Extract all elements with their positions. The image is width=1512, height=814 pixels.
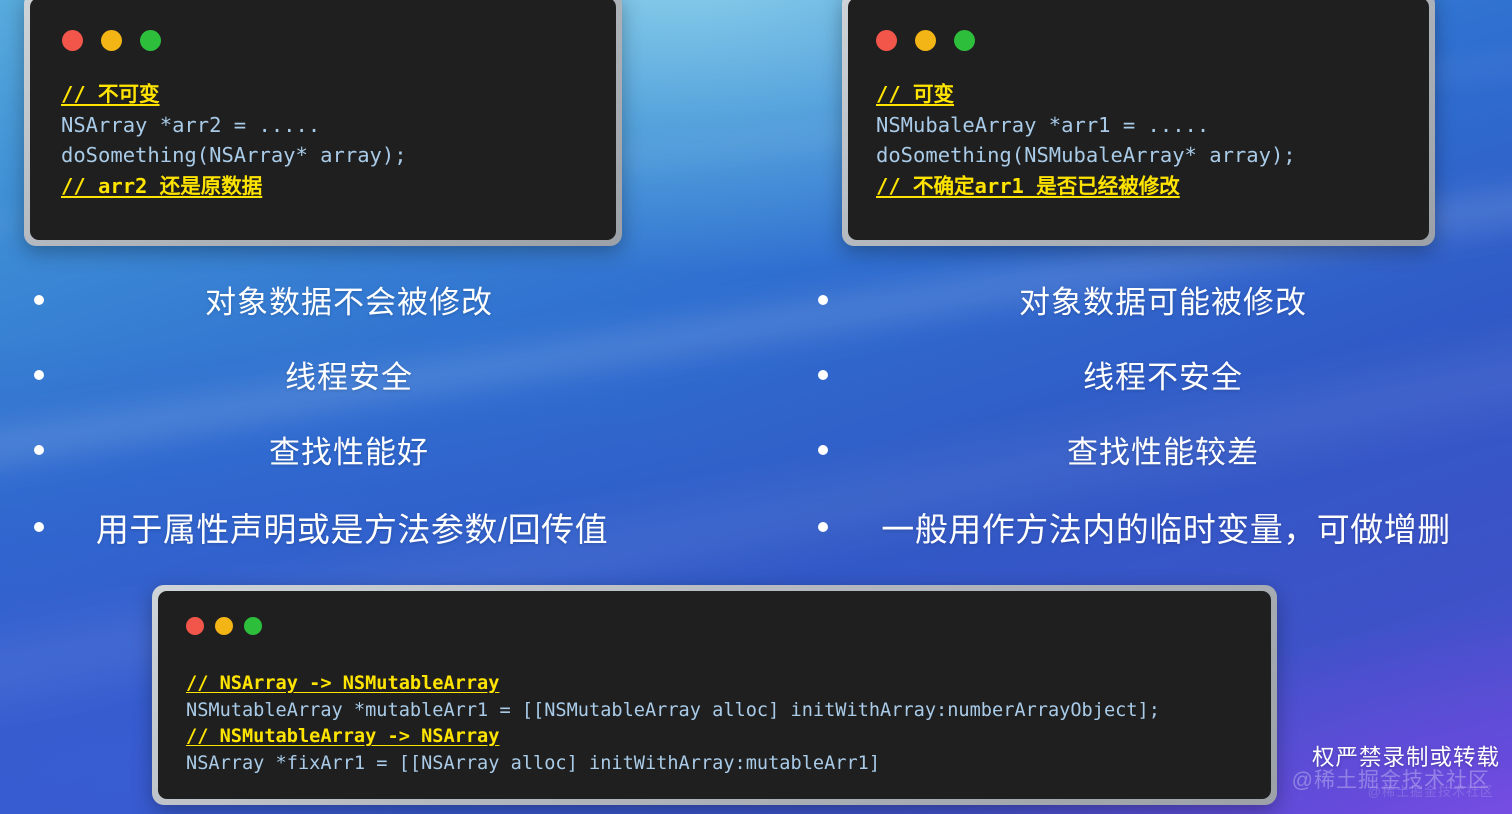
code-line: NSMubaleArray *arr1 = ..... — [876, 110, 1296, 141]
code-text: // 可变NSMubaleArray *arr1 = .....doSometh… — [876, 79, 1296, 201]
bullet-text: 查找性能好 — [44, 427, 654, 472]
minimize-dot[interactable] — [101, 30, 122, 51]
bullet-text: 线程安全 — [44, 352, 654, 397]
bullet-text: 线程不安全 — [828, 352, 1498, 397]
code-text: // 不可变NSArray *arr2 = .....doSomething(N… — [61, 79, 407, 201]
code-line: NSArray *arr2 = ..... — [61, 110, 407, 141]
code-line: doSomething(NSMubaleArray* array); — [876, 140, 1296, 171]
code-window-body: // NSArray -> NSMutableArrayNSMutableArr… — [158, 591, 1271, 799]
window-traffic-lights — [876, 30, 975, 51]
bullet-dot-icon — [34, 522, 44, 532]
close-dot[interactable] — [186, 617, 204, 635]
bullet-dot-icon — [34, 445, 44, 455]
code-window-body: // 可变NSMubaleArray *arr1 = .....doSometh… — [848, 0, 1429, 240]
code-comment-line: // 不确定arr1 是否已经被修改 — [876, 171, 1296, 202]
code-line: NSArray *fixArr1 = [[NSArray alloc] init… — [186, 751, 1160, 778]
list-item: 查找性能较差 — [818, 412, 1498, 487]
list-item: 线程安全 — [34, 337, 654, 412]
maximize-dot[interactable] — [244, 617, 262, 635]
bullet-dot-icon — [34, 370, 44, 380]
list-item: 对象数据不会被修改 — [34, 262, 654, 337]
bullet-text: 查找性能较差 — [828, 427, 1498, 472]
minimize-dot[interactable] — [915, 30, 936, 51]
bullet-dot-icon — [818, 522, 828, 532]
bullet-text: 对象数据不会被修改 — [44, 277, 654, 322]
list-item: 线程不安全 — [818, 337, 1498, 412]
bullet-dot-icon — [34, 295, 44, 305]
code-window-body: // 不可变NSArray *arr2 = .....doSomething(N… — [30, 0, 616, 240]
code-line: doSomething(NSArray* array); — [61, 140, 407, 171]
window-traffic-lights — [62, 30, 161, 51]
code-comment-line: // 不可变 — [61, 79, 407, 110]
bullet-column-immutable: 对象数据不会被修改 线程安全 查找性能好 用于属性声明或是方法参数/回传值 — [34, 262, 654, 567]
list-item: 对象数据可能被修改 — [818, 262, 1498, 337]
bullet-text: 对象数据可能被修改 — [828, 277, 1498, 322]
bullet-dot-icon — [818, 295, 828, 305]
bullet-text: 一般用作方法内的临时变量，可做增删 — [834, 503, 1498, 551]
window-traffic-lights — [186, 617, 262, 635]
slide-canvas: // 不可变NSArray *arr2 = .....doSomething(N… — [0, 0, 1512, 814]
bullet-dot-icon — [818, 370, 828, 380]
community-watermark-small: @稀土掘金技术社区 — [1368, 781, 1494, 800]
list-item: 查找性能好 — [34, 412, 654, 487]
code-line: NSMutableArray *mutableArr1 = [[NSMutabl… — [186, 698, 1160, 725]
bullet-text: 用于属性声明或是方法参数/回传值 — [50, 503, 654, 551]
minimize-dot[interactable] — [215, 617, 233, 635]
code-text: // NSArray -> NSMutableArrayNSMutableArr… — [186, 671, 1160, 777]
maximize-dot[interactable] — [140, 30, 161, 51]
bullet-dot-icon — [818, 445, 828, 455]
code-comment-line: // 可变 — [876, 79, 1296, 110]
close-dot[interactable] — [62, 30, 83, 51]
code-comment-line: // NSMutableArray -> NSArray — [186, 724, 1160, 751]
list-item: 用于属性声明或是方法参数/回传值 — [34, 487, 654, 567]
code-comment-line: // arr2 还是原数据 — [61, 171, 407, 202]
close-dot[interactable] — [876, 30, 897, 51]
code-window-conversion: // NSArray -> NSMutableArrayNSMutableArr… — [152, 585, 1277, 805]
code-window-immutable: // 不可变NSArray *arr2 = .....doSomething(N… — [24, 0, 622, 246]
code-window-mutable: // 可变NSMubaleArray *arr1 = .....doSometh… — [842, 0, 1435, 246]
maximize-dot[interactable] — [954, 30, 975, 51]
bullet-column-mutable: 对象数据可能被修改 线程不安全 查找性能较差 一般用作方法内的临时变量，可做增删 — [818, 262, 1498, 567]
code-comment-line: // NSArray -> NSMutableArray — [186, 671, 1160, 698]
list-item: 一般用作方法内的临时变量，可做增删 — [818, 487, 1498, 567]
